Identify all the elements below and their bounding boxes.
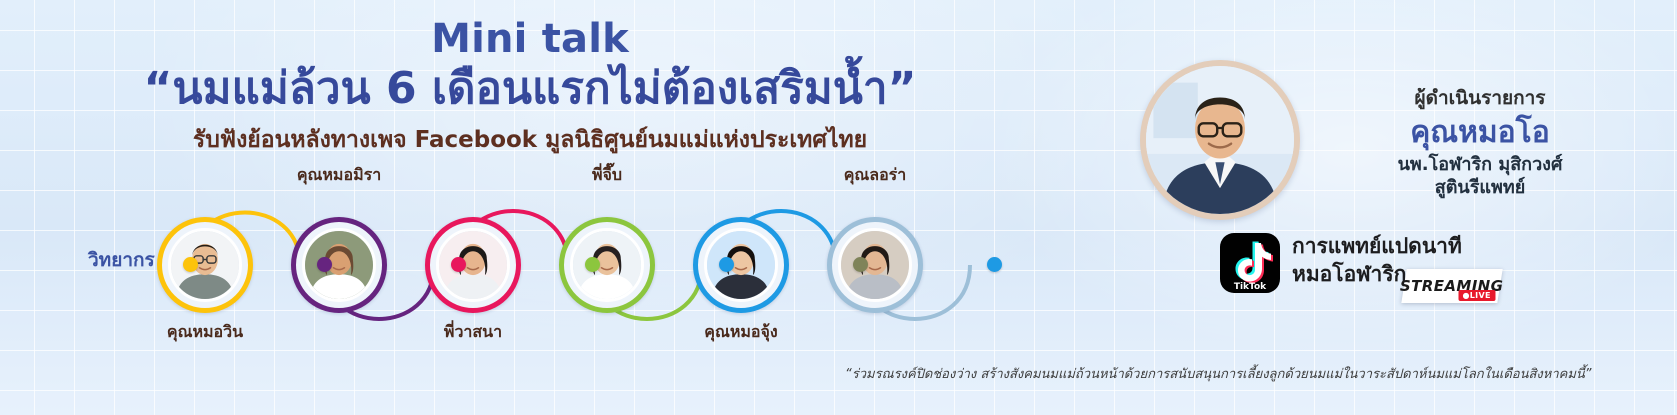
speaker-avatar-ring bbox=[559, 217, 655, 313]
channel-name-line1: การแพทย์แปดนาที bbox=[1292, 233, 1462, 261]
page-title: Mini talk bbox=[0, 18, 1060, 61]
tiktok-icon[interactable]: TikTok bbox=[1220, 233, 1280, 293]
speaker-node[interactable]: พี่วาสนา bbox=[425, 185, 521, 345]
speaker-avatar bbox=[838, 228, 912, 302]
speaker-portrait-illustration bbox=[573, 231, 641, 299]
host-block: ผู้ดำเนินรายการ คุณหมอโอ นพ.โอฬาริก มุสิ… bbox=[1140, 55, 1660, 395]
speaker-portrait-illustration bbox=[305, 231, 373, 299]
speaker-portrait-illustration bbox=[707, 231, 775, 299]
timeline-dot bbox=[719, 257, 734, 272]
tiktok-note-icon: TikTok bbox=[1220, 233, 1280, 293]
speaker-avatar bbox=[570, 228, 644, 302]
timeline-dot bbox=[987, 257, 1002, 272]
headline-block: Mini talk “นมแม่ล้วน 6 เดือนแรกไม่ต้องเส… bbox=[0, 18, 1060, 155]
timeline-dot bbox=[853, 257, 868, 272]
timeline-dot bbox=[585, 257, 600, 272]
host-info: ผู้ดำเนินรายการ คุณหมอโอ นพ.โอฬาริก มุสิ… bbox=[1310, 83, 1650, 199]
timeline-dot bbox=[183, 257, 198, 272]
speaker-avatar bbox=[436, 228, 510, 302]
speaker-avatar-ring bbox=[425, 217, 521, 313]
speaker-avatar-ring bbox=[693, 217, 789, 313]
speaker-timeline: คุณหมอวินคุณหมอมิราพี่วาสนาพี่จี๊บคุณหมอ… bbox=[0, 185, 1020, 345]
speaker-avatar bbox=[168, 228, 242, 302]
speaker-avatar-ring bbox=[157, 217, 253, 313]
streaming-badge: STREAMING ●LIVE bbox=[1401, 269, 1502, 303]
speaker-avatar bbox=[302, 228, 376, 302]
campaign-banner: Mini talk “นมแม่ล้วน 6 เดือนแรกไม่ต้องเส… bbox=[0, 0, 1677, 415]
speaker-node[interactable]: คุณหมอวิน bbox=[157, 185, 253, 345]
speaker-avatar-ring bbox=[291, 217, 387, 313]
live-badge: ●LIVE bbox=[1458, 290, 1495, 301]
host-role: ผู้ดำเนินรายการ bbox=[1310, 83, 1650, 113]
host-specialty: สูตินรีแพทย์ bbox=[1310, 177, 1650, 200]
host-fullname: นพ.โอฬาริก มุสิกวงศ์ bbox=[1310, 154, 1650, 177]
host-portrait-illustration bbox=[1146, 66, 1294, 214]
speaker-node[interactable]: คุณหมอจุ้ง bbox=[693, 185, 789, 345]
campaign-footnote: “ร่วมรณรงค์ปิดช่องว่าง สร้างสังคมนมแม่ถ้… bbox=[845, 363, 1645, 384]
host-avatar bbox=[1140, 60, 1300, 220]
timeline-dot bbox=[451, 257, 466, 272]
host-nickname: คุณหมอโอ bbox=[1310, 116, 1650, 149]
speaker-portrait-illustration bbox=[171, 231, 239, 299]
social-block[interactable]: TikTok การแพทย์แปดนาที หมอโอฬาริก STREAM… bbox=[1220, 233, 1660, 308]
speaker-node[interactable]: คุณลอร่า bbox=[827, 185, 923, 345]
speaker-portrait-illustration bbox=[841, 231, 909, 299]
timeline-dot bbox=[317, 257, 332, 272]
tiktok-wordmark: TikTok bbox=[1234, 282, 1267, 292]
speaker-avatar-ring bbox=[827, 217, 923, 313]
speaker-portrait-illustration bbox=[439, 231, 507, 299]
speaker-avatar bbox=[704, 228, 778, 302]
speaker-name: คุณลอร่า bbox=[745, 163, 1005, 188]
headline-quote: “นมแม่ล้วน 6 เดือนแรกไม่ต้องเสริมน้ำ” bbox=[0, 63, 1060, 115]
headline-subtitle: รับฟังย้อนหลังทางเพจ Facebook มูลนิธิศูน… bbox=[0, 127, 1060, 155]
